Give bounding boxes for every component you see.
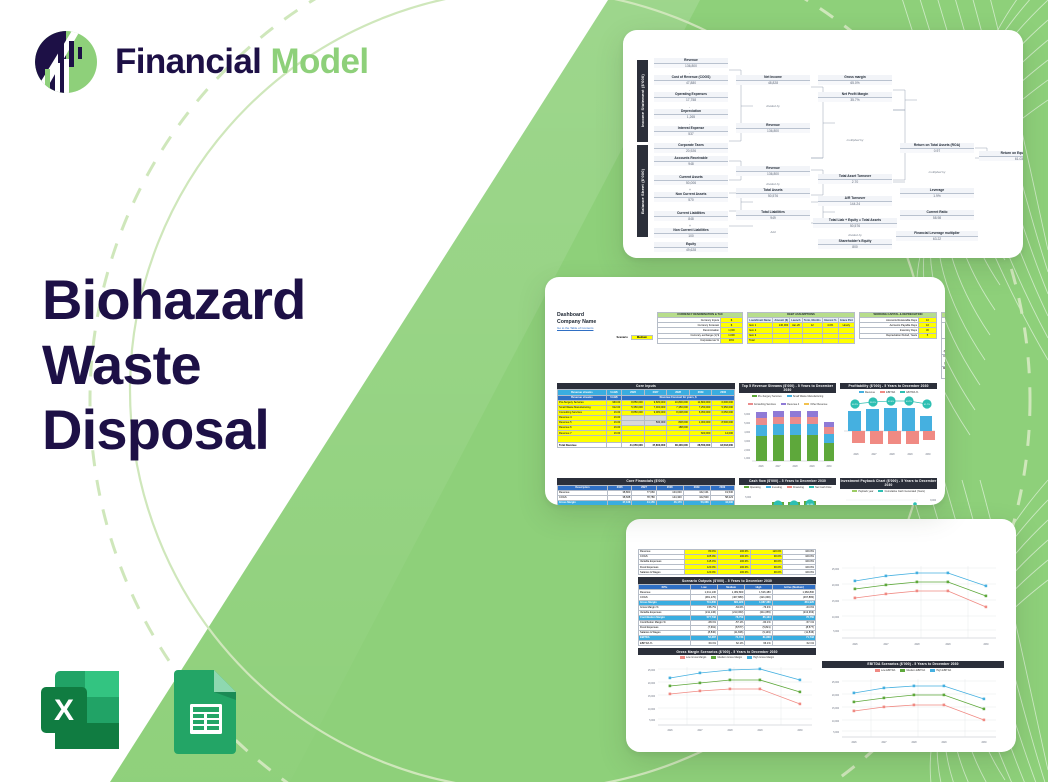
legend-item: Other Revenue xyxy=(804,403,827,406)
svg-text:2028: 2028 xyxy=(911,742,917,744)
svg-text:2030: 2030 xyxy=(797,730,803,732)
tree-node: Financial Leverage multiplier63.22 xyxy=(896,231,978,241)
headline-line-2: Waste xyxy=(42,333,442,398)
legend-item: Small Waste Manufacturing xyxy=(787,395,824,398)
tree-node: Revenue136,800 xyxy=(736,166,810,176)
compatible-apps: X xyxy=(33,662,253,758)
svg-text:X: X xyxy=(54,694,74,727)
tree-node: Return on Equity (ROE)61.03 xyxy=(979,151,1023,161)
tree-operator: divided by xyxy=(743,182,803,186)
scenario-right-column: 25,000 20,000 15,000 10,000 5,000 xyxy=(822,549,1004,750)
row-label: EBITDA % xyxy=(639,641,691,646)
working-capital-panel: WORKING CAPITAL & DEPRECIATION Accounts … xyxy=(859,312,937,339)
svg-text:2027: 2027 xyxy=(881,742,887,744)
dashboard-card[interactable]: Dashboard Company Name Go to the Table o… xyxy=(545,277,945,505)
svg-text:2026: 2026 xyxy=(667,730,673,732)
cashflow-bar-chart: 5,000 4,000 3,000 2,000 1,000 - (1,000) xyxy=(739,490,836,505)
cell: 47,168 xyxy=(608,500,632,505)
svg-text:6,000: 6,000 xyxy=(744,414,750,416)
legend-item: Consulting Services xyxy=(748,403,776,406)
cashflow-chart-block: Cash flow ($'000) - 5 Years to December … xyxy=(739,478,836,505)
cell[interactable]: 100.0% xyxy=(717,570,750,575)
cell: 41,050,000 xyxy=(622,443,645,448)
microsoft-excel-icon[interactable]: X xyxy=(33,662,129,758)
tree-node: Shareholder's Equity800 xyxy=(818,239,892,249)
svg-text:25,000: 25,000 xyxy=(648,670,656,672)
svg-text:10,000: 10,000 xyxy=(648,709,656,711)
row-label: Gross Margin xyxy=(558,500,608,505)
row-label: Return on Equity (ROE) xyxy=(942,323,946,339)
legend-item: Financing xyxy=(787,486,804,489)
tree-operator: divided by xyxy=(743,104,803,108)
svg-text:2028: 2028 xyxy=(914,644,920,646)
cell[interactable]: 120.0% xyxy=(685,570,718,575)
svg-text:2030: 2030 xyxy=(826,466,832,468)
scenario-trend-line-chart: 25,000 20,000 15,000 10,000 5,000 xyxy=(822,558,1000,652)
cell: 38,550,000 xyxy=(689,443,712,448)
tree-node: Current Ratio58.98 xyxy=(900,210,974,220)
legend-item: Investing xyxy=(766,486,782,489)
legend-item: Payback year xyxy=(852,490,873,493)
svg-text:1,000: 1,000 xyxy=(744,458,750,460)
legend-item: Medium EBITDA xyxy=(900,669,925,672)
tree-node: Total Liabilities949 xyxy=(736,210,810,220)
svg-text:2026: 2026 xyxy=(851,742,857,744)
tree-node: Non Current Assets570 xyxy=(654,192,728,202)
svg-text:2030: 2030 xyxy=(981,742,987,744)
cell[interactable]: 90.0% xyxy=(750,570,783,575)
cell: 43,518,000 xyxy=(712,443,735,448)
svg-text:15,000: 15,000 xyxy=(832,601,840,603)
row-label: Corporate tax % xyxy=(658,338,721,343)
legend-item: Cumulative Cash Generated (Years) xyxy=(878,490,924,493)
tree-node: Return on Total Assets (ROA)0.97 xyxy=(900,143,974,153)
svg-text:5,000: 5,000 xyxy=(833,732,839,734)
svg-text:2030: 2030 xyxy=(925,454,931,456)
cell: 60.1% xyxy=(691,641,718,646)
svg-text:3,000: 3,000 xyxy=(744,441,750,443)
svg-text:5,000: 5,000 xyxy=(649,720,655,722)
tree-operator: divided by xyxy=(825,233,885,237)
cell: 44,156 xyxy=(632,500,656,505)
tree-node: Interest Expense537 xyxy=(654,126,728,136)
headline-line-1: Biohazard xyxy=(42,268,442,333)
cell: 50,368 xyxy=(683,500,710,505)
cell: 44,090 xyxy=(710,500,734,505)
section-label-balance-sheet: Balance Sheet ($'000) xyxy=(637,145,648,237)
left-content-pane: Financial Model Biohazard Waste Disposal… xyxy=(0,0,470,782)
section-label-income-statement: Income Statement ($'000) xyxy=(637,60,648,142)
tree-node: A/R Turnover144.24 xyxy=(818,196,892,206)
svg-text:2029: 2029 xyxy=(941,742,947,744)
dashboard-sheet: Dashboard Company Name Go to the Table o… xyxy=(545,277,945,505)
scenario-label: Scenario xyxy=(616,336,627,339)
svg-text:2027: 2027 xyxy=(883,644,889,646)
svg-text:5,000: 5,000 xyxy=(833,631,839,633)
google-sheets-icon[interactable] xyxy=(157,662,253,758)
svg-text:25,000: 25,000 xyxy=(832,569,840,571)
tree-node: Operating Expenses17,758 xyxy=(654,92,728,102)
debt-panel: DEBT ASSUMPTIONS Loan/Grant Name Amount … xyxy=(747,312,855,344)
legend-item: Revenue 4 xyxy=(781,403,799,406)
core-inputs-title: Core Inputs xyxy=(557,383,735,390)
tree-node: Current Assets50,006 xyxy=(654,175,728,185)
svg-text:20,000: 20,000 xyxy=(648,683,656,685)
svg-text:20,000: 20,000 xyxy=(832,585,840,587)
legend-item: Medium Gross Margin xyxy=(711,656,742,659)
profitability-chart-title: Profitability ($'000) - 5 Years to Decem… xyxy=(840,383,937,390)
investment-payback-line-chart: 8,000 7,000 6,000 5,000 4,000 3,000 2,00… xyxy=(840,494,937,505)
row-value[interactable]: 30% xyxy=(721,338,743,343)
svg-text:2028: 2028 xyxy=(792,466,798,468)
tree-node: Net Income48,828 xyxy=(736,75,810,85)
currency-panel: CURRENCY DENOMINATION & TAX Currency Inp… xyxy=(657,312,743,344)
svg-text:46.2%: 46.2% xyxy=(852,404,858,406)
tree-node: Gross margin65.0% xyxy=(818,75,892,85)
key-metrics-panel: KEY METRICS IRR47.48% Return on Equity (… xyxy=(941,312,945,379)
top5-chart-title: Top 5 Revenue Streams ($'000) - 5 Years … xyxy=(739,383,836,394)
ebitda-scenarios-line-chart: 25,000 20,000 15,000 10,000 5,000 xyxy=(822,673,1000,745)
svg-text:2028: 2028 xyxy=(727,730,733,732)
svg-text:4,000: 4,000 xyxy=(744,432,750,434)
top5-chart-legend: Pre-Surgery Services Small Waste Manufac… xyxy=(739,393,836,406)
row-label: Internal Rate of Return (IRR), % xyxy=(942,338,946,354)
core-financials-title: Core Financials ($'000) xyxy=(557,478,735,485)
svg-text:38.1%: 38.1% xyxy=(870,402,876,404)
tree-node: Revenue136,800 xyxy=(654,58,728,68)
legend-item: Operating xyxy=(744,486,761,489)
row-label: Discount rate (WACC) xyxy=(942,354,946,366)
scenario-sheet: Revenue80.0%100.0%120.0%100.0%COGS105.0%… xyxy=(626,519,1016,752)
svg-text:2,000: 2,000 xyxy=(744,450,750,452)
svg-text:10,000: 10,000 xyxy=(832,617,840,619)
cell: 46,170 xyxy=(656,500,683,505)
brand-word-model: Model xyxy=(270,42,368,82)
legend-item: Low Gross Margin xyxy=(680,656,706,659)
svg-text:25,000: 25,000 xyxy=(832,682,840,684)
legend-item: High EBITDA xyxy=(930,669,951,672)
scenario-analysis-card[interactable]: Revenue80.0%100.0%120.0%100.0%COGS105.0%… xyxy=(626,519,1016,752)
gross-margin-chart-title: Gross Margin Scenarios ($'000) - 5 Years… xyxy=(638,648,816,655)
top5-revenue-chart-block: Top 5 Revenue Streams ($'000) - 5 Years … xyxy=(739,383,836,474)
gross-margin-scenarios-line-chart: 25,000 20,000 15,000 10,000 5,000 xyxy=(638,661,816,733)
tree-node: Equity49,628 xyxy=(654,242,728,252)
core-inputs-block: Core Inputs Revenue streams Unit/$ 2026 … xyxy=(557,383,735,474)
svg-text:2028: 2028 xyxy=(889,454,895,456)
svg-text:2029: 2029 xyxy=(809,466,815,468)
svg-text:2029: 2029 xyxy=(907,454,913,456)
brand-word-financial: Financial xyxy=(115,42,261,81)
brand-logo[interactable]: Financial Model xyxy=(33,29,369,95)
financial-driver-tree-card[interactable]: Income Statement ($'000) Balance Sheet (… xyxy=(623,30,1023,258)
svg-text:15,000: 15,000 xyxy=(648,696,656,698)
cell: 62.1% xyxy=(717,641,744,646)
svg-text:5,000: 5,000 xyxy=(745,497,751,499)
table-row: Gross Margin47,16844,15646,17050,36844,0… xyxy=(558,500,735,505)
dashboard-heading-block: Dashboard Company Name Go to the Table o… xyxy=(557,312,653,340)
ebitda-chart-title: EBITDA Scenarios ($'000) - 5 Years to De… xyxy=(822,661,1004,668)
svg-text:2029: 2029 xyxy=(757,730,763,732)
legend-item: Pre-Surgery Services xyxy=(752,395,782,398)
tree-operator: multiplied by xyxy=(825,138,885,142)
legend-item: Revenue xyxy=(859,391,875,394)
tree-node: Corporate Taxes20,926 xyxy=(654,143,728,153)
payback-chart-block: Investment Payback Chart ($'000) - 5 Yea… xyxy=(840,478,937,505)
tree-node: Leverage1.9% xyxy=(900,188,974,198)
svg-text:8,000: 8,000 xyxy=(930,500,936,502)
row-label: Depreciation Period, Years xyxy=(860,333,919,338)
svg-text:41.7%: 41.7% xyxy=(924,404,930,406)
promo-banner: Financial Model Biohazard Waste Disposal… xyxy=(0,0,1048,782)
tree-node: Non Current Liabilities100 xyxy=(654,228,728,238)
row-value[interactable]: 5 xyxy=(919,333,937,338)
svg-text:2026: 2026 xyxy=(758,466,764,468)
cell: 38,400,000 xyxy=(667,443,690,448)
cell: 62.1% xyxy=(772,641,815,646)
legend-item: Net Cash Flow xyxy=(809,486,832,489)
tree-node: Cost of Revenue (COGS)47,880 xyxy=(654,75,728,85)
scenario-value[interactable]: Medium xyxy=(631,335,653,340)
svg-text:2026: 2026 xyxy=(853,454,859,456)
table-row: EBITDA %60.1%62.1%66.1%62.1% xyxy=(639,641,816,646)
top5-revenue-stacked-bar-chart: 6,000 5,000 4,000 3,000 2,000 1,000 xyxy=(739,407,836,469)
svg-text:20,000: 20,000 xyxy=(832,695,840,697)
svg-text:2026: 2026 xyxy=(852,644,858,646)
table-of-contents-link[interactable]: Go to the Table of Contents xyxy=(557,326,653,330)
tree-node: Depreciation1,265 xyxy=(654,109,728,119)
tree-node: Net Profit Margin35.7% xyxy=(818,92,892,102)
core-financials-block: Core Financials ($'000) Description 2026… xyxy=(557,478,735,505)
scenario-outputs-title: Scenario Outputs ($'000) - 5 Years to De… xyxy=(638,577,816,584)
scenario-left-column: Revenue80.0%100.0%120.0%100.0%COGS105.0%… xyxy=(638,549,816,750)
row-label: Minimum Cash ($'000) xyxy=(942,366,946,378)
cell[interactable]: 100.0% xyxy=(783,570,816,575)
row-label: Salaries & Wages xyxy=(639,570,685,575)
tree-operator: Add xyxy=(743,230,803,234)
profitability-bar-chart: 46.2% 38.1% 42.0% 43.7% 41.7% 2026 2027 … xyxy=(840,395,937,457)
svg-text:2030: 2030 xyxy=(983,644,989,646)
svg-text:2027: 2027 xyxy=(697,730,703,732)
cashflow-chart-title: Cash flow ($'000) - 5 Years to December … xyxy=(739,478,836,485)
legend-item: High Gross Margin xyxy=(747,656,774,659)
table-row: Salaries & Wages120.0%100.0%90.0%100.0% xyxy=(639,570,816,575)
tree-node: Current Liabilities848 xyxy=(654,211,728,221)
svg-text:5,000: 5,000 xyxy=(744,423,750,425)
driver-tree: Income Statement ($'000) Balance Sheet (… xyxy=(623,30,1023,258)
svg-text:15,000: 15,000 xyxy=(832,708,840,710)
legend-item: EBITDA % xyxy=(900,391,918,394)
dashboard-title-line1: Dashboard xyxy=(557,312,653,319)
row-label: Total Revenue xyxy=(558,443,607,448)
svg-text:44,580: 44,580 xyxy=(807,504,814,505)
cell: 47,800,000 xyxy=(644,443,667,448)
svg-text:10,000: 10,000 xyxy=(832,721,840,723)
svg-text:42.0%: 42.0% xyxy=(888,401,894,403)
legend-item: Low EBITDA xyxy=(875,669,896,672)
cell: 66.1% xyxy=(745,641,772,646)
profitability-chart-block: Profitability ($'000) - 5 Years to Decem… xyxy=(840,383,937,474)
tree-node: Total Asset Turnover2.70 xyxy=(818,174,892,184)
dashboard-title-line2: Company Name xyxy=(557,319,653,326)
tree-node: Accounts Receivable948 xyxy=(654,156,728,166)
svg-text:2027: 2027 xyxy=(775,466,781,468)
tree-node: Revenue136,800 xyxy=(736,123,810,133)
tree-operator: multiplied by xyxy=(907,170,967,174)
headline-line-3: Disposal xyxy=(42,398,442,463)
tree-node: Total Liab + Equity = Total Assets50,576 xyxy=(813,218,897,228)
svg-text:2029: 2029 xyxy=(945,644,951,646)
financial-model-logo-icon xyxy=(33,29,99,95)
brand-wordmark: Financial Model xyxy=(115,42,369,82)
svg-text:2027: 2027 xyxy=(871,454,877,456)
svg-text:43.7%: 43.7% xyxy=(906,401,912,403)
legend-item: EBITDA xyxy=(880,391,895,394)
page-title: Biohazard Waste Disposal xyxy=(42,268,442,463)
tree-node: Total Assets50,576 xyxy=(736,188,810,198)
cell: Total xyxy=(748,338,773,343)
payback-chart-title: Investment Payback Chart ($'000) - 5 Yea… xyxy=(840,478,937,489)
